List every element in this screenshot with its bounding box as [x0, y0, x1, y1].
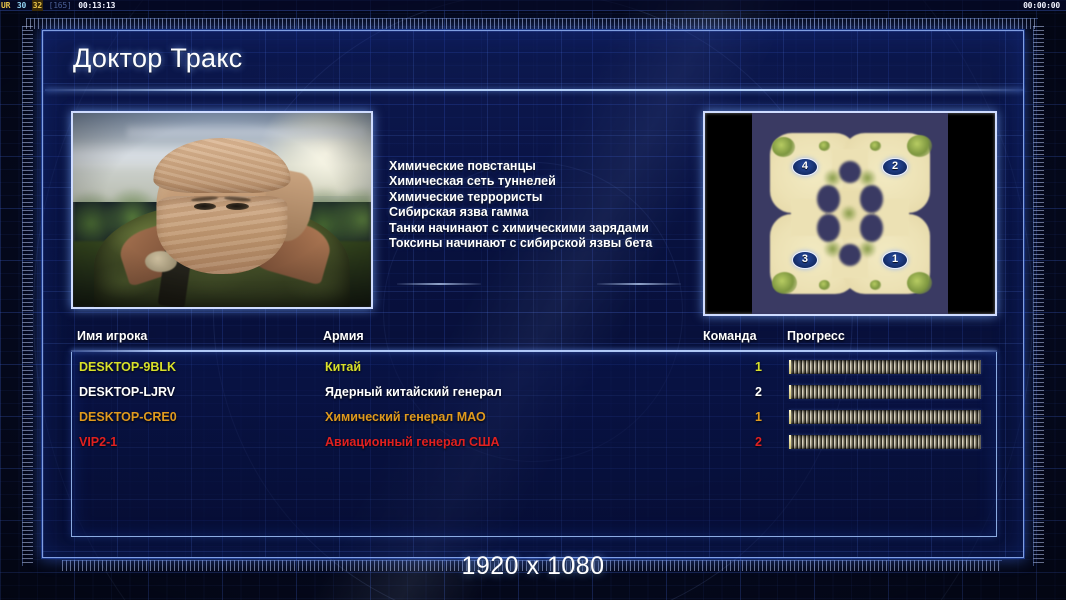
frame-ruler-top [26, 18, 1038, 29]
hud-value-2: 32 [32, 0, 43, 11]
table-row[interactable]: VIP2-1 Авиационный генерал США 2 [72, 431, 996, 455]
minimap-tree [870, 280, 882, 290]
player-name: DESKTOP-LJRV [79, 385, 175, 399]
column-header-army: Армия [323, 329, 364, 343]
minimap-frame: 4 2 3 1 [703, 111, 997, 316]
table-row[interactable]: DESKTOP-CRE0 Химический генерал МАО 1 [72, 406, 996, 430]
progress-bar-cap [789, 435, 791, 449]
minimap-tree [819, 280, 831, 290]
progress-bar-fill [789, 410, 981, 424]
minimap-gap [860, 214, 884, 242]
player-name: DESKTOP-9BLK [79, 360, 176, 374]
hud-value-1: 30 [16, 0, 27, 11]
description-line: Химические террористы [389, 190, 652, 205]
minimap-tree-cluster [907, 272, 932, 294]
player-army: Химический генерал МАО [325, 410, 486, 424]
player-progress-bar [789, 385, 981, 399]
minimap-vegetation [840, 205, 858, 221]
minimap-image: 4 2 3 1 [752, 113, 948, 314]
progress-bar-cap [789, 385, 791, 399]
player-army: Ядерный китайский генерал [325, 385, 502, 399]
loading-screen-panel: Доктор Тракс [42, 30, 1024, 558]
player-progress-bar [789, 360, 981, 374]
player-team: 2 [732, 385, 762, 399]
minimap-vegetation [823, 240, 843, 258]
hud-right-clock: 00:00:00 [1023, 0, 1060, 11]
minimap-start-position-3[interactable]: 3 [792, 251, 818, 269]
table-row[interactable]: DESKTOP-LJRV Ядерный китайский генерал 2 [72, 381, 996, 405]
progress-bar-fill [789, 360, 981, 374]
frame-ruler-left [22, 26, 33, 566]
title-bar: Доктор Тракс [43, 31, 1025, 91]
description-line: Токсины начинают с сибирской язвы бета [389, 236, 652, 251]
progress-bar-cap [789, 360, 791, 374]
player-table-body: DESKTOP-9BLK Китай 1 DESKTOP-LJRV Ядерны… [71, 352, 997, 537]
player-army: Китай [325, 360, 361, 374]
description-divider-left [397, 283, 481, 285]
description-line: Химические повстанцы [389, 159, 652, 174]
hud-label: UR [0, 0, 11, 11]
player-table-header: Имя игрока Армия Команда Прогресс [71, 329, 997, 349]
hud-elapsed-time: 00:13:13 [77, 0, 116, 11]
player-team: 2 [732, 435, 762, 449]
title-divider [45, 89, 1023, 91]
hud-top-bar: UR 30 32 [165] 00:13:13 00:00:00 [0, 0, 1066, 11]
minimap-start-position-2[interactable]: 2 [882, 158, 908, 176]
progress-bar-fill [789, 435, 981, 449]
description-line: Сибирская язва гамма [389, 205, 652, 220]
progress-bar-cap [789, 410, 791, 424]
resolution-label: 1920 x 1080 [0, 552, 1066, 581]
player-progress-bar [789, 435, 981, 449]
info-row: Химические повстанцы Химическая сеть тун… [71, 111, 997, 316]
general-description-box: Химические повстанцы Химическая сеть тун… [389, 111, 689, 309]
portrait-vignette [73, 113, 371, 307]
minimap-terrain [752, 113, 948, 314]
description-line: Танки начинают с химическими зарядами [389, 221, 652, 236]
general-description-list: Химические повстанцы Химическая сеть тун… [389, 159, 652, 251]
description-line: Химическая сеть туннелей [389, 174, 652, 189]
description-divider-right [597, 283, 681, 285]
player-name: VIP2-1 [79, 435, 117, 449]
general-portrait-image [73, 113, 371, 307]
general-portrait-frame [71, 111, 373, 309]
hud-bracket: [165] [48, 0, 73, 11]
player-team: 1 [732, 360, 762, 374]
player-progress-bar [789, 410, 981, 424]
minimap-start-position-4[interactable]: 4 [792, 158, 818, 176]
minimap-start-position-1[interactable]: 1 [882, 251, 908, 269]
minimap-gap [817, 214, 841, 242]
frame-ruler-right [1033, 26, 1044, 566]
column-header-progress: Прогресс [787, 329, 845, 343]
player-table: Имя игрока Армия Команда Прогресс DESKTO… [71, 329, 997, 539]
minimap-vegetation [858, 240, 878, 258]
column-header-player-name: Имя игрока [77, 329, 147, 343]
player-name: DESKTOP-CRE0 [79, 410, 177, 424]
minimap-tree-cluster [772, 272, 797, 294]
progress-bar-fill [789, 385, 981, 399]
player-army: Авиационный генерал США [325, 435, 500, 449]
player-team: 1 [732, 410, 762, 424]
column-header-team: Команда [703, 329, 757, 343]
page-title: Доктор Тракс [73, 43, 243, 74]
table-row[interactable]: DESKTOP-9BLK Китай 1 [72, 356, 996, 380]
